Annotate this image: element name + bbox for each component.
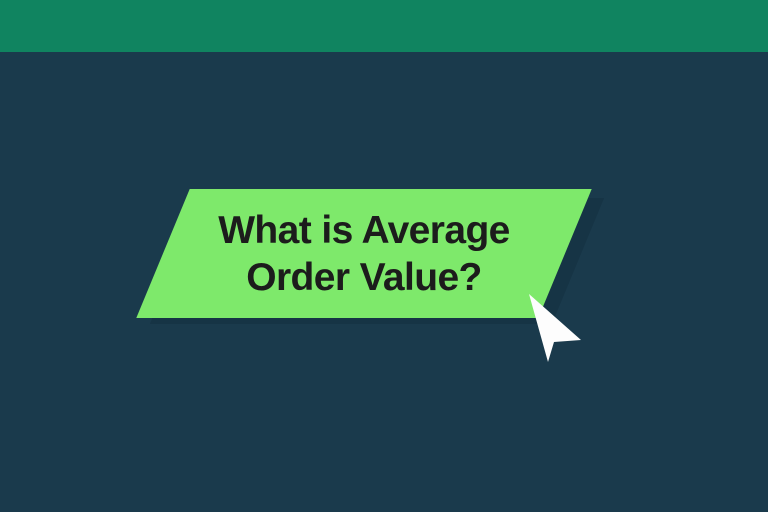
title-card-canvas: What is Average Order Value? <box>0 0 768 512</box>
headline-line-1: What is Average <box>218 207 510 254</box>
headline-banner-content: What is Average Order Value? <box>163 189 565 318</box>
headline-banner: What is Average Order Value? <box>136 189 591 318</box>
headline-line-2: Order Value? <box>246 254 482 301</box>
